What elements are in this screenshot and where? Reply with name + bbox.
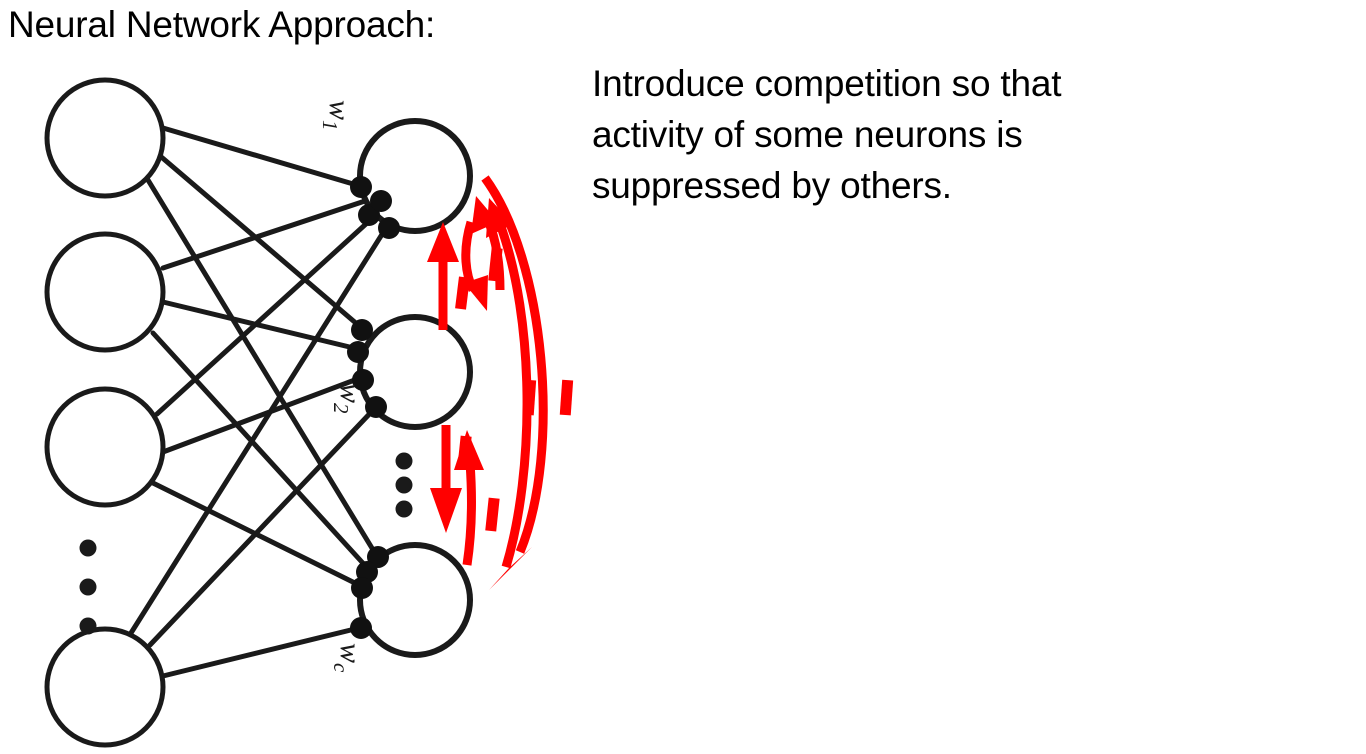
input-neuron-4[interactable] (47, 629, 163, 745)
connection-i4-o1 (131, 228, 386, 633)
synapse-dot (351, 577, 373, 599)
connection-i1-o2 (159, 155, 364, 330)
ellipsis-dot (80, 540, 97, 557)
synapse-dot (365, 396, 387, 418)
weight-label-w2: w2 (329, 383, 367, 414)
inhibition-arrow-short-down-1 (464, 222, 488, 311)
ellipsis-dot (80, 579, 97, 596)
input-neuron-2[interactable] (47, 234, 163, 350)
synapse-dot (351, 319, 373, 341)
inhibition-arrow-short-up-1 (427, 222, 459, 330)
synapse-dot (378, 217, 400, 239)
input-neuron-layer (47, 80, 163, 745)
connection-i1-o1 (163, 128, 360, 186)
neural-network-diagram: w1 w2 wc (0, 0, 1366, 754)
connection-i2-o1 (163, 200, 368, 268)
connection-i3-o3 (153, 483, 365, 588)
inhibition-sign-minus (560, 380, 573, 416)
inhibition-sign-minus (485, 498, 499, 532)
output-layer-ellipsis (396, 453, 413, 518)
input-neuron-1[interactable] (47, 80, 163, 196)
ellipsis-dot (80, 618, 97, 635)
synapse-dot (350, 617, 372, 639)
ellipsis-dot (396, 501, 413, 518)
input-layer-ellipsis (80, 540, 97, 635)
connection-i3-o2 (163, 378, 360, 452)
ellipsis-dot (396, 453, 413, 470)
ellipsis-dot (396, 477, 413, 494)
synapse-dot (370, 190, 392, 212)
slide-canvas: Neural Network Approach: Introduce compe… (0, 0, 1366, 754)
synapse-dot (350, 176, 372, 198)
input-neuron-3[interactable] (47, 389, 163, 505)
synapse-dot (347, 341, 369, 363)
inhibition-arrow-short-down-2 (430, 425, 462, 533)
weight-label-wc: wc (329, 643, 367, 673)
weight-label-w1: w1 (318, 100, 356, 131)
